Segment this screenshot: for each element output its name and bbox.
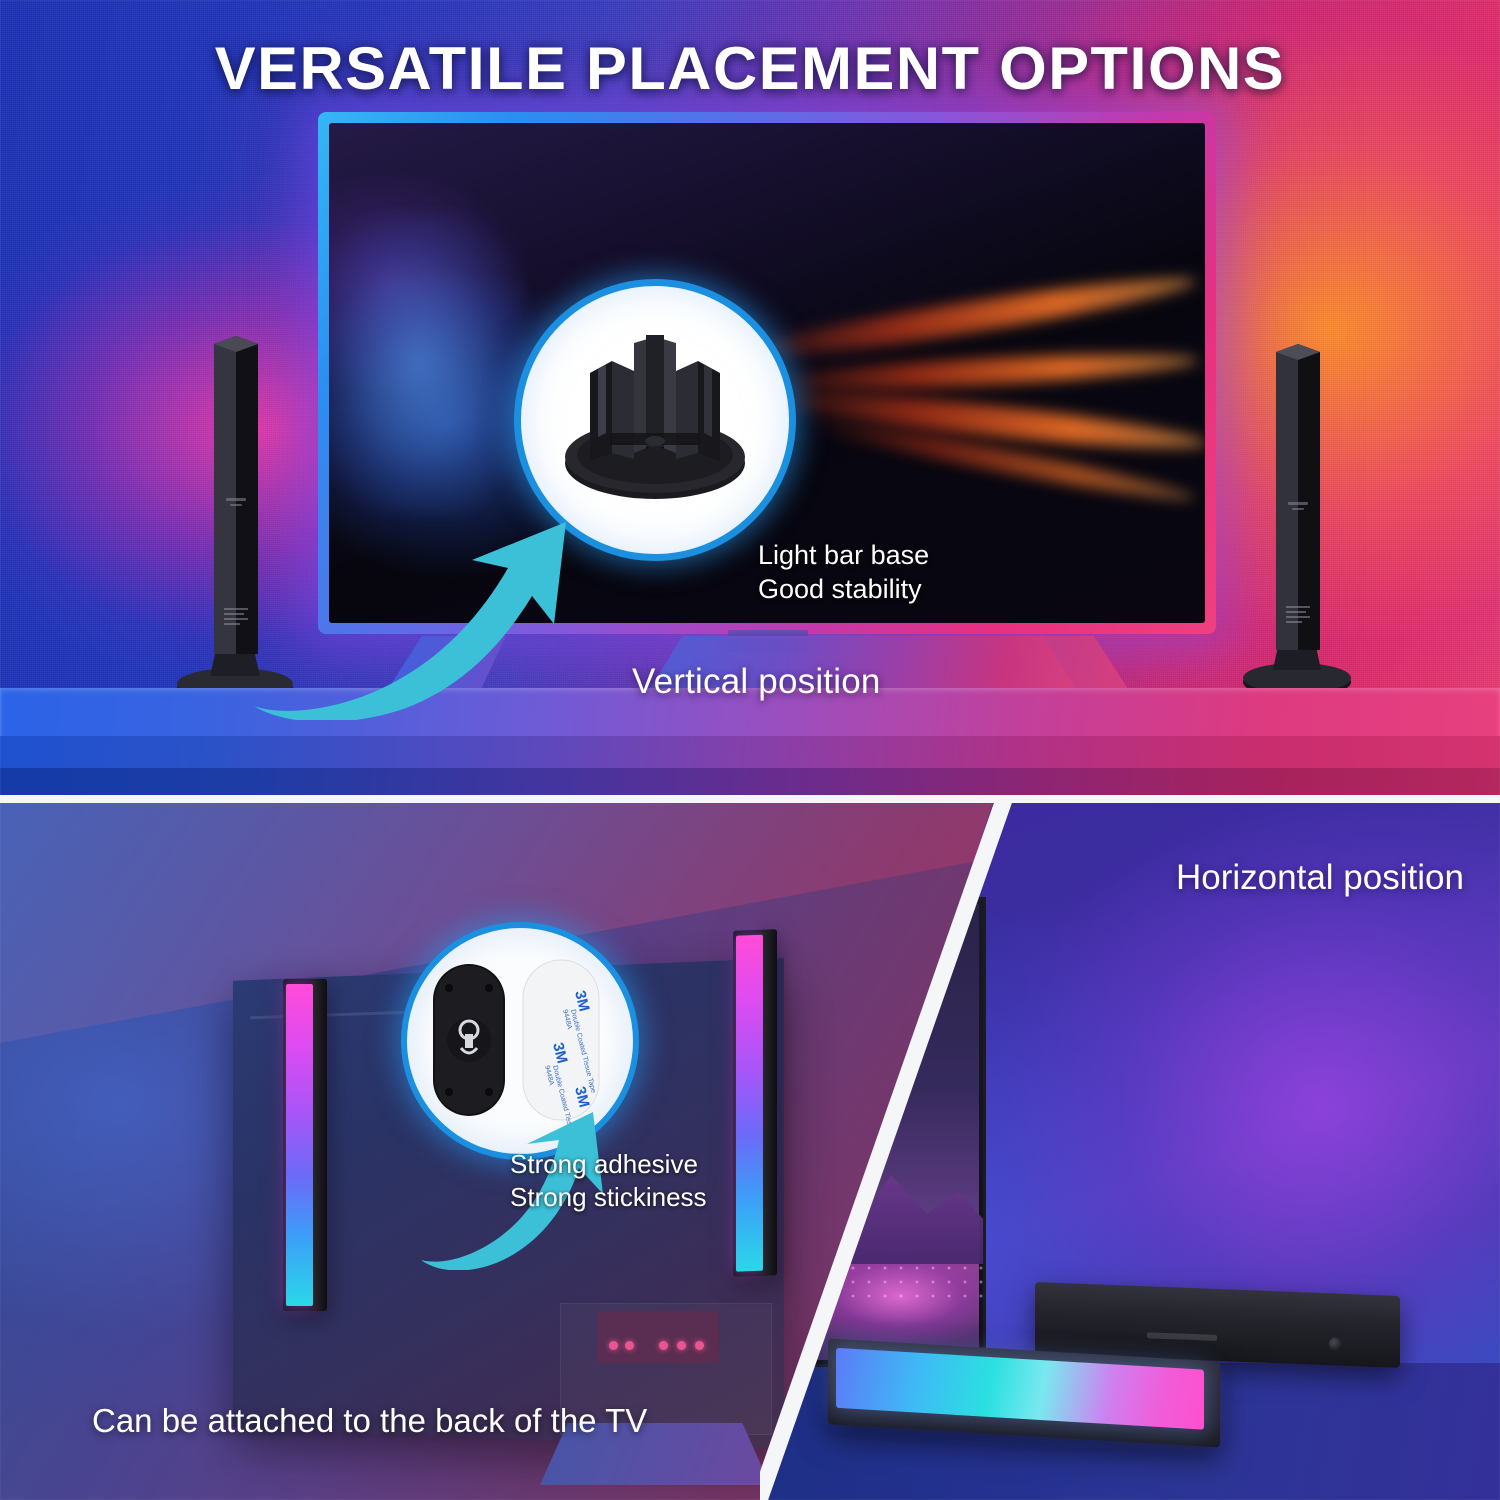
light-bar-glow-face (286, 984, 313, 1306)
console-table-edge (0, 736, 1500, 770)
light-bar-vertical-right (1222, 330, 1372, 710)
label-vertical-position: Vertical position (632, 662, 881, 702)
page-title: VERSATILE PLACEMENT OPTIONS (0, 34, 1500, 103)
top-panel-vertical-placement: Light bar base Good stability Vertical p… (0, 0, 1500, 798)
panel-divider-horizontal (0, 795, 1500, 803)
light-bar-glow-face (836, 1348, 1204, 1430)
port-indicator (659, 1341, 668, 1350)
port-indicator (677, 1341, 686, 1350)
port-indicator (625, 1341, 634, 1350)
screen-blue-glow (329, 213, 529, 513)
light-bar-mounted-right (733, 929, 777, 1277)
console-table-skirt (0, 768, 1500, 798)
caption-attach-to-tv-back: Can be attached to the back of the TV (92, 1402, 647, 1440)
power-button-icon[interactable] (1329, 1337, 1342, 1350)
light-bar-base-icon (550, 313, 760, 527)
port-indicator (695, 1341, 704, 1350)
brand-mark (1147, 1332, 1217, 1341)
callout-light-bar-base: Light bar base Good stability (758, 538, 929, 606)
light-bar-mounted-left (283, 979, 327, 1311)
port-indicator (609, 1341, 618, 1350)
product-infographic: Light bar base Good stability Vertical p… (0, 0, 1500, 1500)
inset-light-bar-base (514, 279, 796, 561)
screen-red-streak (759, 348, 1200, 397)
tv-port-block (597, 1311, 719, 1363)
callout-strong-adhesive: Strong adhesive Strong stickiness (510, 1148, 707, 1214)
curved-arrow-icon (246, 520, 586, 720)
label-horizontal-position: Horizontal position (1176, 858, 1464, 898)
light-bar-glow-face (736, 935, 763, 1272)
light-bar-housing-side (313, 979, 327, 1311)
light-bar-housing-side (763, 929, 777, 1275)
adhesive-mount-icon: 3M 3M 3M 9448A Double Coated Tissue Tape… (425, 948, 615, 1134)
